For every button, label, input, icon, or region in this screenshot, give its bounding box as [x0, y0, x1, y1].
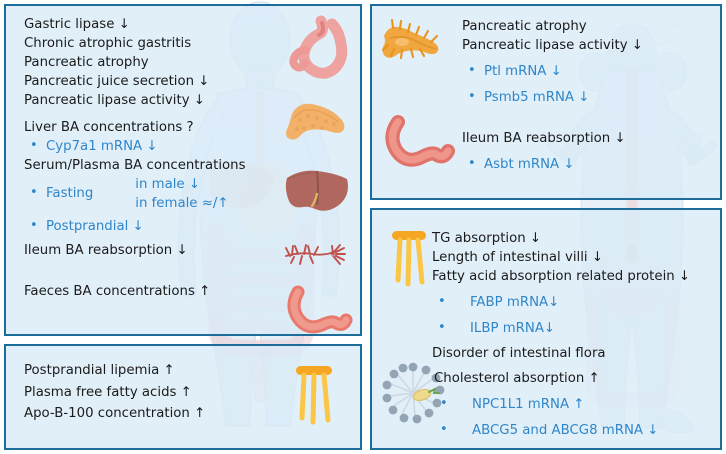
pancreas-icon	[284, 98, 350, 144]
mouse-intestine-icon-wrap	[380, 110, 452, 170]
mouse-upper-group2-text: Ileum BA reabsorption ↓ Asbt mRNA ↓	[462, 130, 712, 175]
fasting-detail-group: in male ↓ in female ≈/↑	[135, 176, 228, 214]
list-item-sub: Postprandial ↓	[24, 218, 284, 237]
list-item: Chronic atrophic gastritis	[24, 35, 284, 54]
mouse-pancreas-icon	[380, 16, 442, 62]
human-lower-icon-column	[282, 362, 354, 428]
list-item-sub: Asbt mRNA ↓	[462, 156, 712, 175]
list-item: Pancreatic juice secretion ↓	[24, 73, 284, 92]
list-item: Length of intestinal villi ↓	[432, 249, 714, 268]
mouse-pancreas-icon-wrap	[380, 16, 440, 62]
human-lower-text-list: Postprandial lipemia ↑ Plasma free fatty…	[24, 360, 284, 425]
list-item: Faeces BA concentrations ↑	[24, 283, 284, 302]
panel-mouse-upper: Pancreatic atrophy Pancreatic lipase act…	[370, 4, 722, 200]
panel-human-lower: Postprandial lipemia ↑ Plasma free fatty…	[4, 344, 362, 450]
list-item: Cholesterol absorption ↑	[434, 370, 714, 389]
liver-icon	[284, 166, 350, 214]
list-item: Gastric lipase ↓	[24, 16, 284, 35]
list-item-sub: FABP mRNA↓	[432, 294, 714, 313]
list-item: Serum/Plasma BA concentrations	[24, 157, 284, 176]
fasting-female: in female ≈/↑	[135, 195, 228, 214]
list-item-sub: Cyp7a1 mRNA ↓	[24, 138, 284, 157]
list-item: Fatty acid absorption related protein ↓	[432, 268, 714, 287]
list-item: Pancreatic atrophy	[24, 54, 284, 73]
list-item-sub: ABCG5 and ABCG8 mRNA ↓	[434, 422, 714, 441]
fasting-row: Fasting in male ↓ in female ≈/↑	[24, 176, 284, 214]
mouse-intestine-icon	[380, 110, 452, 170]
panel-mouse-lower: TG absorption ↓ Length of intestinal vil…	[370, 208, 722, 450]
human-upper-icon-column	[282, 14, 354, 336]
list-item: Disorder of intestinal flora	[432, 345, 714, 364]
list-item: Postprandial lipemia ↑	[24, 360, 284, 382]
mouse-lower-group2-text: Cholesterol absorption ↑ NPC1L1 mRNA ↑ A…	[434, 370, 714, 441]
list-item: Pancreatic lipase activity ↓	[462, 37, 712, 56]
mouse-upper-group1-text: Pancreatic atrophy Pancreatic lipase act…	[462, 18, 712, 108]
list-item-sub: ILBP mRNA↓	[432, 320, 714, 339]
list-item: Ileum BA reabsorption ↓	[24, 242, 284, 261]
mouse-lower-group1-text: TG absorption ↓ Length of intestinal vil…	[432, 230, 714, 364]
fasting-male: in male ↓	[135, 176, 228, 195]
list-item: Plasma free fatty acids ↑	[24, 382, 284, 404]
list-item: TG absorption ↓	[432, 230, 714, 249]
list-item: Liver BA concentrations ?	[24, 119, 284, 138]
spacer	[24, 261, 284, 270]
spacer	[24, 110, 284, 119]
list-item-sub: Ptl mRNA ↓	[462, 63, 712, 82]
list-item-sub: Psmb5 mRNA ↓	[462, 89, 712, 108]
human-upper-text-list: Gastric lipase ↓ Chronic atrophic gastri…	[24, 16, 284, 301]
panel-human-upper: Gastric lipase ↓ Chronic atrophic gastri…	[4, 4, 362, 336]
bile-duct-icon	[282, 236, 352, 270]
list-item: Ileum BA reabsorption ↓	[462, 130, 712, 149]
triglyceride-icon	[288, 362, 344, 428]
figure-root: Gastric lipase ↓ Chronic atrophic gastri…	[0, 0, 726, 454]
stomach-icon	[286, 18, 352, 76]
list-item-sub: Fasting	[24, 185, 93, 204]
list-item-sub: NPC1L1 mRNA ↑	[434, 396, 714, 415]
list-item: Pancreatic atrophy	[462, 18, 712, 37]
list-item: Pancreatic lipase activity ↓	[24, 92, 284, 111]
intestine-icon	[284, 282, 350, 336]
triglyceride-icon	[386, 228, 438, 290]
list-item: Apo-B-100 concentration ↑	[24, 403, 284, 425]
